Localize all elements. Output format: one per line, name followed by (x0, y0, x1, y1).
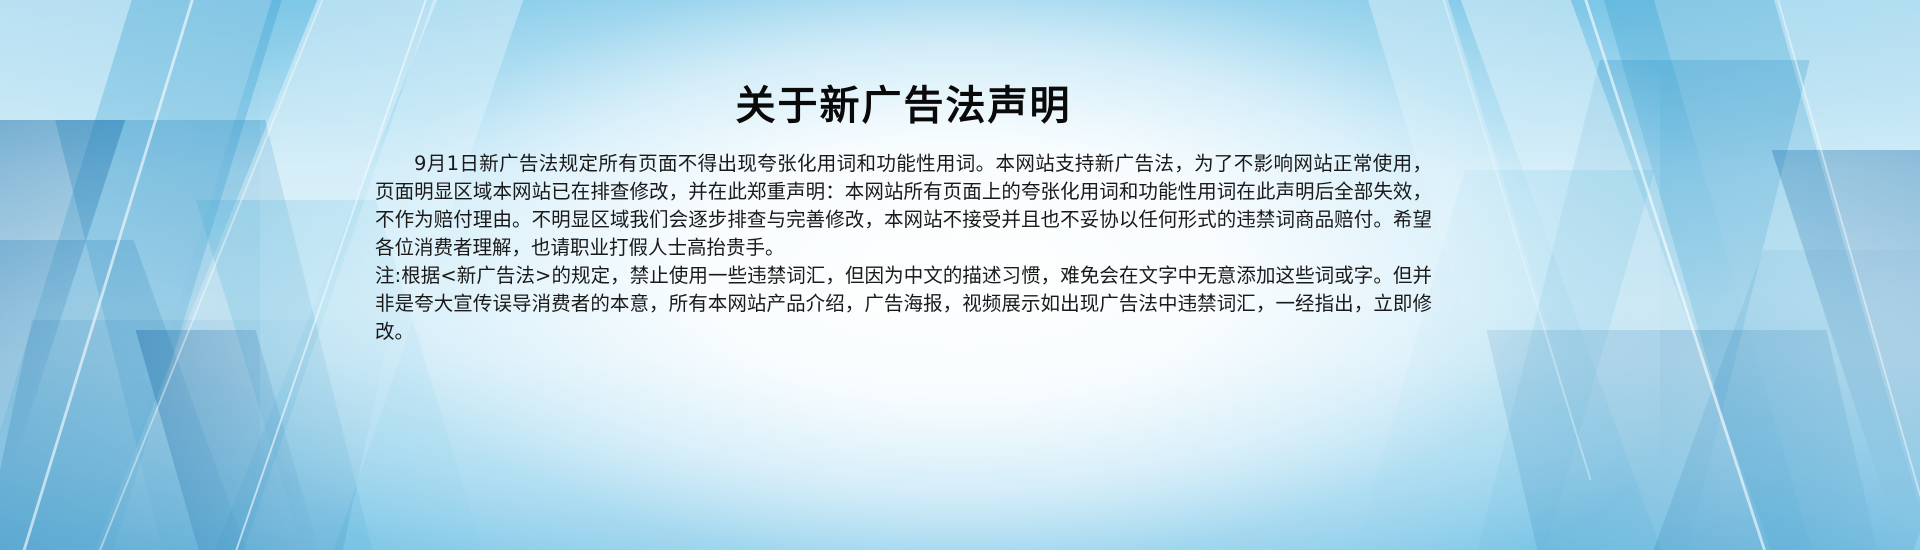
statement-paragraph-note: 注:根据<新广告法>的规定，禁止使用一些违禁词汇，但因为中文的描述习惯，难免会在… (375, 262, 1432, 346)
decorative-glass-pane-left-2 (0, 0, 306, 550)
page-title: 关于新广告法声明 (375, 0, 1432, 130)
statement-body: 9月1日新广告法规定所有页面不得出现夸张化用词和功能性用词。本网站支持新广告法，… (375, 150, 1432, 346)
decorative-glass-pane-right-3 (1460, 60, 1810, 550)
advertising-law-statement-banner: 关于新广告法声明 9月1日新广告法规定所有页面不得出现夸张化用词和功能性用词。本… (0, 0, 1920, 550)
decorative-accent-left (0, 120, 125, 460)
decorative-glass-pane-left-1 (0, 0, 290, 550)
decorative-accent-right (1772, 150, 1920, 510)
statement-content: 关于新广告法声明 9月1日新广告法规定所有页面不得出现夸张化用词和功能性用词。本… (375, 0, 1432, 550)
decorative-glass-pane-right-2 (1587, 0, 1920, 550)
decorative-glass-pane-right-4 (1617, 250, 1920, 550)
statement-paragraph-main: 9月1日新广告法规定所有页面不得出现夸张化用词和功能性用词。本网站支持新广告法，… (375, 150, 1432, 262)
decorative-glass-pane-right-1 (1631, 0, 1920, 550)
decorative-edge-highlight-4 (1571, 0, 1801, 550)
decorative-edge-highlight-5 (1766, 0, 1920, 550)
decorative-glass-pane-right-5 (1450, 0, 1800, 550)
decorative-edge-highlight-3 (55, 0, 340, 550)
decorative-edge-highlight-6 (1431, 0, 1592, 480)
decorative-accent-lower-left (136, 330, 325, 550)
decorative-glass-pane-left-4 (0, 240, 286, 550)
decorative-glass-pane-left-3 (55, 120, 395, 550)
decorative-glass-pane-right-8 (1487, 330, 1894, 550)
decorative-edge-highlight-1 (0, 0, 206, 550)
decorative-glass-pane-left-7 (0, 320, 392, 550)
